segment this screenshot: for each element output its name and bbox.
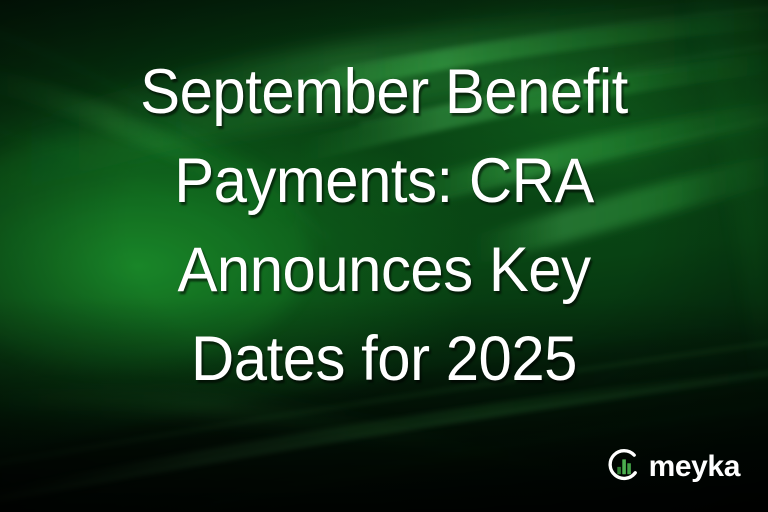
brand-wordmark: meyka xyxy=(649,452,740,482)
brand-logo[interactable]: meyka xyxy=(606,447,740,484)
headline-line-4: Dates for 2025 xyxy=(46,315,722,404)
headline-line-3: Announces Key xyxy=(46,226,722,315)
headline-line-2: Payments: CRA xyxy=(46,137,722,226)
headline-line-1: September Benefit xyxy=(46,48,722,137)
social-banner-card: September Benefit Payments: CRA Announce… xyxy=(0,0,768,512)
headline: September Benefit Payments: CRA Announce… xyxy=(0,48,768,404)
circular-bar-chart-icon xyxy=(606,447,643,484)
